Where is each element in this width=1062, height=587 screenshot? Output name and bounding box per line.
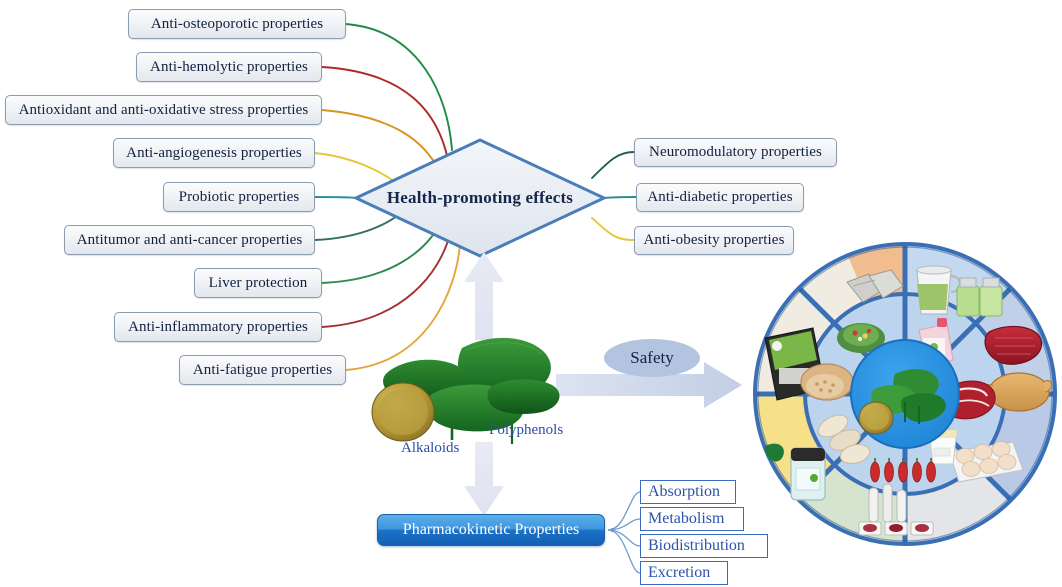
effect-box-neuromodulatory[interactable]: Neuromodulatory properties bbox=[634, 138, 837, 167]
effect-label: Probiotic properties bbox=[179, 189, 300, 206]
pk-item-absorption[interactable]: Absorption bbox=[640, 480, 736, 504]
down-arrow bbox=[464, 442, 504, 516]
effect-box-anti-obesity[interactable]: Anti-obesity properties bbox=[634, 226, 794, 255]
pk-item-label: Excretion bbox=[648, 564, 710, 582]
pk-item-excretion[interactable]: Excretion bbox=[640, 561, 728, 585]
effect-box-anti-fatigue[interactable]: Anti-fatigue properties bbox=[179, 355, 346, 385]
wire-anti-osteoporotic bbox=[346, 24, 452, 150]
wire-probiotic bbox=[315, 197, 358, 198]
pk-fan-wires bbox=[608, 492, 640, 573]
diagram-canvas: Anti-osteoporotic properties Anti-hemoly… bbox=[0, 0, 1062, 587]
effect-label: Anti-angiogenesis properties bbox=[126, 145, 302, 162]
lotus-bread-loaf-icon bbox=[801, 364, 853, 400]
beef-steak-slab-icon bbox=[985, 326, 1042, 364]
lotus-leaf bbox=[458, 338, 551, 396]
polyphenols-label: Polyphenols bbox=[489, 422, 563, 439]
pharmacokinetic-properties-label: Pharmacokinetic Properties bbox=[403, 521, 579, 539]
effect-label: Anti-fatigue properties bbox=[193, 362, 332, 379]
safety-node[interactable]: Safety bbox=[604, 339, 700, 377]
effect-box-anti-hemolytic[interactable]: Anti-hemolytic properties bbox=[136, 52, 322, 82]
effect-label: Anti-inflammatory properties bbox=[128, 319, 308, 336]
pk-item-label: Biodistribution bbox=[648, 537, 745, 555]
effect-label: Anti-osteoporotic properties bbox=[151, 16, 323, 33]
effect-label: Antitumor and anti-cancer properties bbox=[77, 232, 303, 249]
effect-label: Anti-obesity properties bbox=[643, 232, 784, 249]
pharmacokinetic-properties-node[interactable]: Pharmacokinetic Properties bbox=[377, 514, 605, 546]
pk-item-label: Metabolism bbox=[648, 510, 724, 528]
lotus-leaf bbox=[383, 360, 470, 406]
effect-label: Neuromodulatory properties bbox=[649, 144, 822, 161]
applications-wheel[interactable] bbox=[751, 240, 1059, 548]
effect-box-anti-osteoporotic[interactable]: Anti-osteoporotic properties bbox=[128, 9, 346, 39]
center-node-label: Health-promoting effects bbox=[356, 140, 604, 256]
effect-box-anti-angiogenesis[interactable]: Anti-angiogenesis properties bbox=[113, 138, 315, 168]
effect-box-probiotic[interactable]: Probiotic properties bbox=[163, 182, 315, 212]
alkaloid-powder-disc bbox=[372, 383, 434, 441]
effect-label: Anti-hemolytic properties bbox=[150, 59, 308, 76]
effect-box-antitumor[interactable]: Antitumor and anti-cancer properties bbox=[64, 225, 315, 255]
pk-item-label: Absorption bbox=[648, 483, 720, 501]
wire-anti-diabetic bbox=[604, 197, 636, 198]
lotus-leaf bbox=[488, 379, 560, 414]
effect-box-antioxidant[interactable]: Antioxidant and anti-oxidative stress pr… bbox=[5, 95, 322, 125]
pk-item-biodistribution[interactable]: Biodistribution bbox=[640, 534, 768, 558]
up-arrow bbox=[464, 252, 504, 340]
alkaloids-label: Alkaloids bbox=[401, 440, 459, 457]
effect-label: Liver protection bbox=[209, 275, 308, 292]
effect-box-liver-protection[interactable]: Liver protection bbox=[194, 268, 322, 298]
pk-item-metabolism[interactable]: Metabolism bbox=[640, 507, 744, 531]
effect-box-anti-diabetic[interactable]: Anti-diabetic properties bbox=[636, 183, 804, 212]
effect-label: Antioxidant and anti-oxidative stress pr… bbox=[19, 102, 309, 119]
wire-anti-fatigue bbox=[346, 244, 460, 370]
center-node[interactable]: Health-promoting effects bbox=[356, 140, 604, 256]
effect-box-anti-inflammatory[interactable]: Anti-inflammatory properties bbox=[114, 312, 322, 342]
effect-label: Anti-diabetic properties bbox=[647, 189, 792, 206]
safety-label: Safety bbox=[630, 348, 673, 368]
lotus-leaf-capsule-bottle-icon bbox=[765, 444, 825, 500]
